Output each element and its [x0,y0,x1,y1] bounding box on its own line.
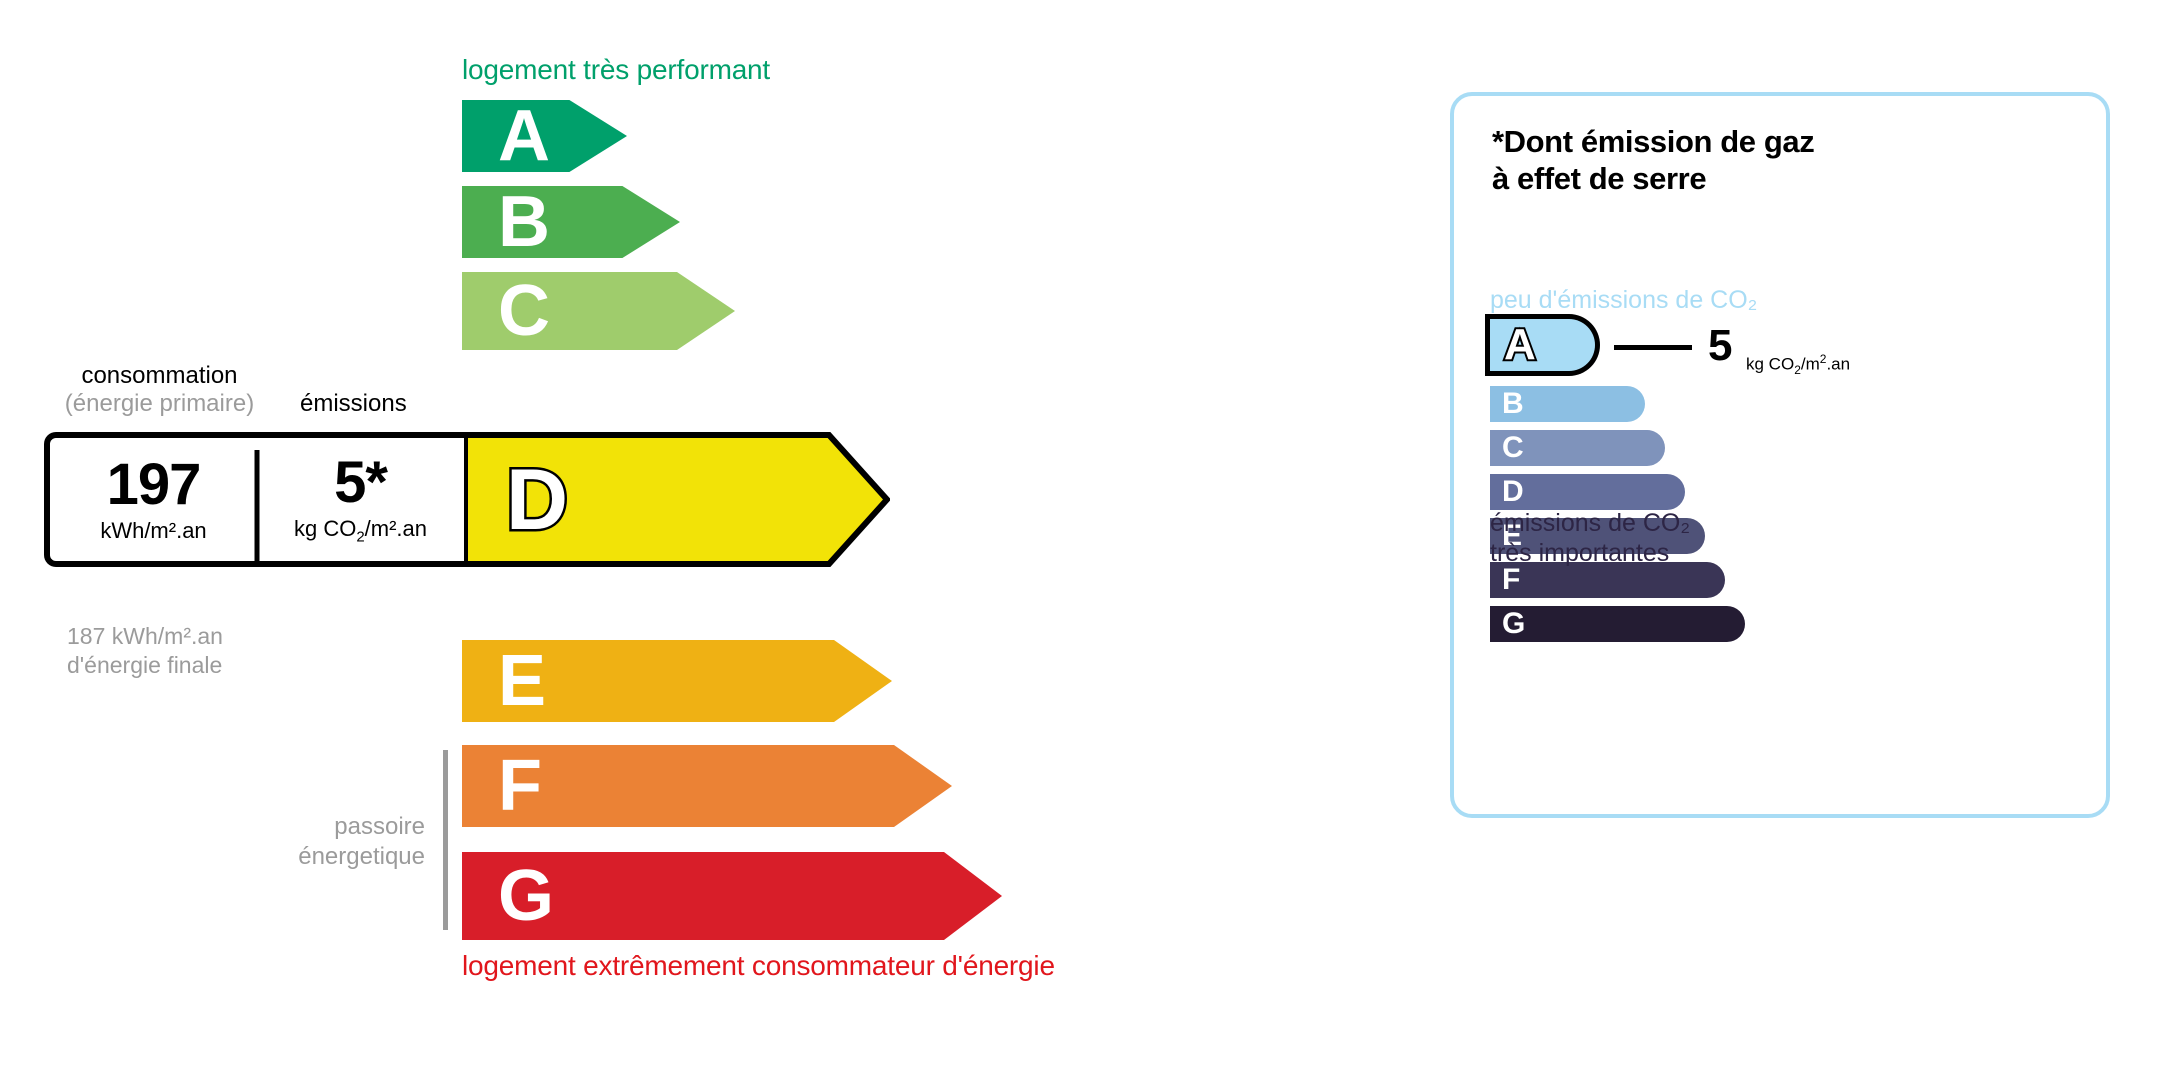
emissions-heading: émissions [300,390,407,418]
energy-bar-shape-g: G [462,852,1002,940]
co2-panel-title: *Dont émission de gaz à effet de serre [1492,124,1814,197]
co2-value-unit: kg CO2/m2.an [1746,352,1850,377]
co2-top-label: peu d'émissions de CO₂ [1490,286,1757,315]
passoire-line1: passoire [225,812,425,842]
emission-cell: 5* kg CO2/m².an [257,454,464,545]
co2-bar-shape-b: B [1490,386,1645,422]
co2-bar-a: A [1490,314,1600,376]
co2-bar-d: D [1490,474,1685,510]
energy-bar-shape-c: C [462,272,735,350]
co2-leader-line [1614,345,1692,350]
energy-bar-f: F [462,745,952,827]
energy-bottom-label: logement extrêmement consommateur d'éner… [462,950,1055,982]
value-box: 197 kWh/m².an 5* kg CO2/m².an [44,432,464,567]
energy-bar-shape-a: A [462,100,627,172]
consumption-unit: kWh/m².an [50,518,257,544]
energy-bar-shape-d: D [462,432,890,567]
co2-value: 5 [1708,324,1732,368]
co2-bar-letter-c: C [1502,433,1524,463]
final-energy-line1: 187 kWh/m².an [67,622,223,651]
co2-bottom-line1: émissions de CO₂ [1490,508,1690,538]
passoire-label: passoire énergetique [225,812,425,872]
consommation-heading: consommation (énergie primaire) [47,362,272,418]
energy-bar-c: C [462,272,735,350]
co2-bar-g: G [1490,606,1745,642]
consommation-heading-sub: (énergie primaire) [47,390,272,418]
co2-bottom-label: émissions de CO₂ très importantes [1490,508,1690,568]
co2-bar-letter-a: A [1504,323,1536,367]
passoire-bracket [443,750,448,930]
energy-top-label: logement très performant [462,54,770,86]
dpe-label: logement très performant ABCDEFG consomm… [0,0,2169,1079]
co2-bar-shape-d: D [1490,474,1685,510]
consommation-heading-main: consommation [47,362,272,390]
co2-bar-letter-f: F [1502,565,1520,595]
co2-bar-letter-d: D [1502,477,1524,507]
consumption-value: 197 [50,456,257,514]
co2-bar-shape-a: A [1490,314,1600,376]
consumption-cell: 197 kWh/m².an [50,456,257,544]
emission-value: 5* [257,454,464,512]
co2-bar-letter-b: B [1502,389,1524,419]
co2-bar-shape-g: G [1490,606,1745,642]
co2-title-line2: à effet de serre [1492,161,1814,198]
energy-bar-d: D [462,432,890,567]
energy-scale-panel: logement très performant ABCDEFG consomm… [0,0,1400,1079]
energy-bar-shape-b: B [462,186,680,258]
co2-bar-b: B [1490,386,1645,422]
energy-bar-e: E [462,640,892,722]
co2-bar-letter-g: G [1502,609,1525,639]
emission-unit: kg CO2/m².an [257,516,464,545]
co2-bar-c: C [1490,430,1665,466]
co2-bar-shape-c: C [1490,430,1665,466]
energy-bar-shape-e: E [462,640,892,722]
final-energy-line2: d'énergie finale [67,651,223,680]
co2-bottom-line2: très importantes [1490,538,1690,568]
co2-panel: *Dont émission de gaz à effet de serre p… [1450,92,2110,818]
energy-bar-g: G [462,852,1002,940]
final-energy-note: 187 kWh/m².an d'énergie finale [67,622,223,680]
passoire-line2: énergetique [225,842,425,872]
energy-bar-shape-f: F [462,745,952,827]
energy-bar-b: B [462,186,680,258]
energy-bar-a: A [462,100,627,172]
co2-title-line1: *Dont émission de gaz [1492,124,1814,161]
